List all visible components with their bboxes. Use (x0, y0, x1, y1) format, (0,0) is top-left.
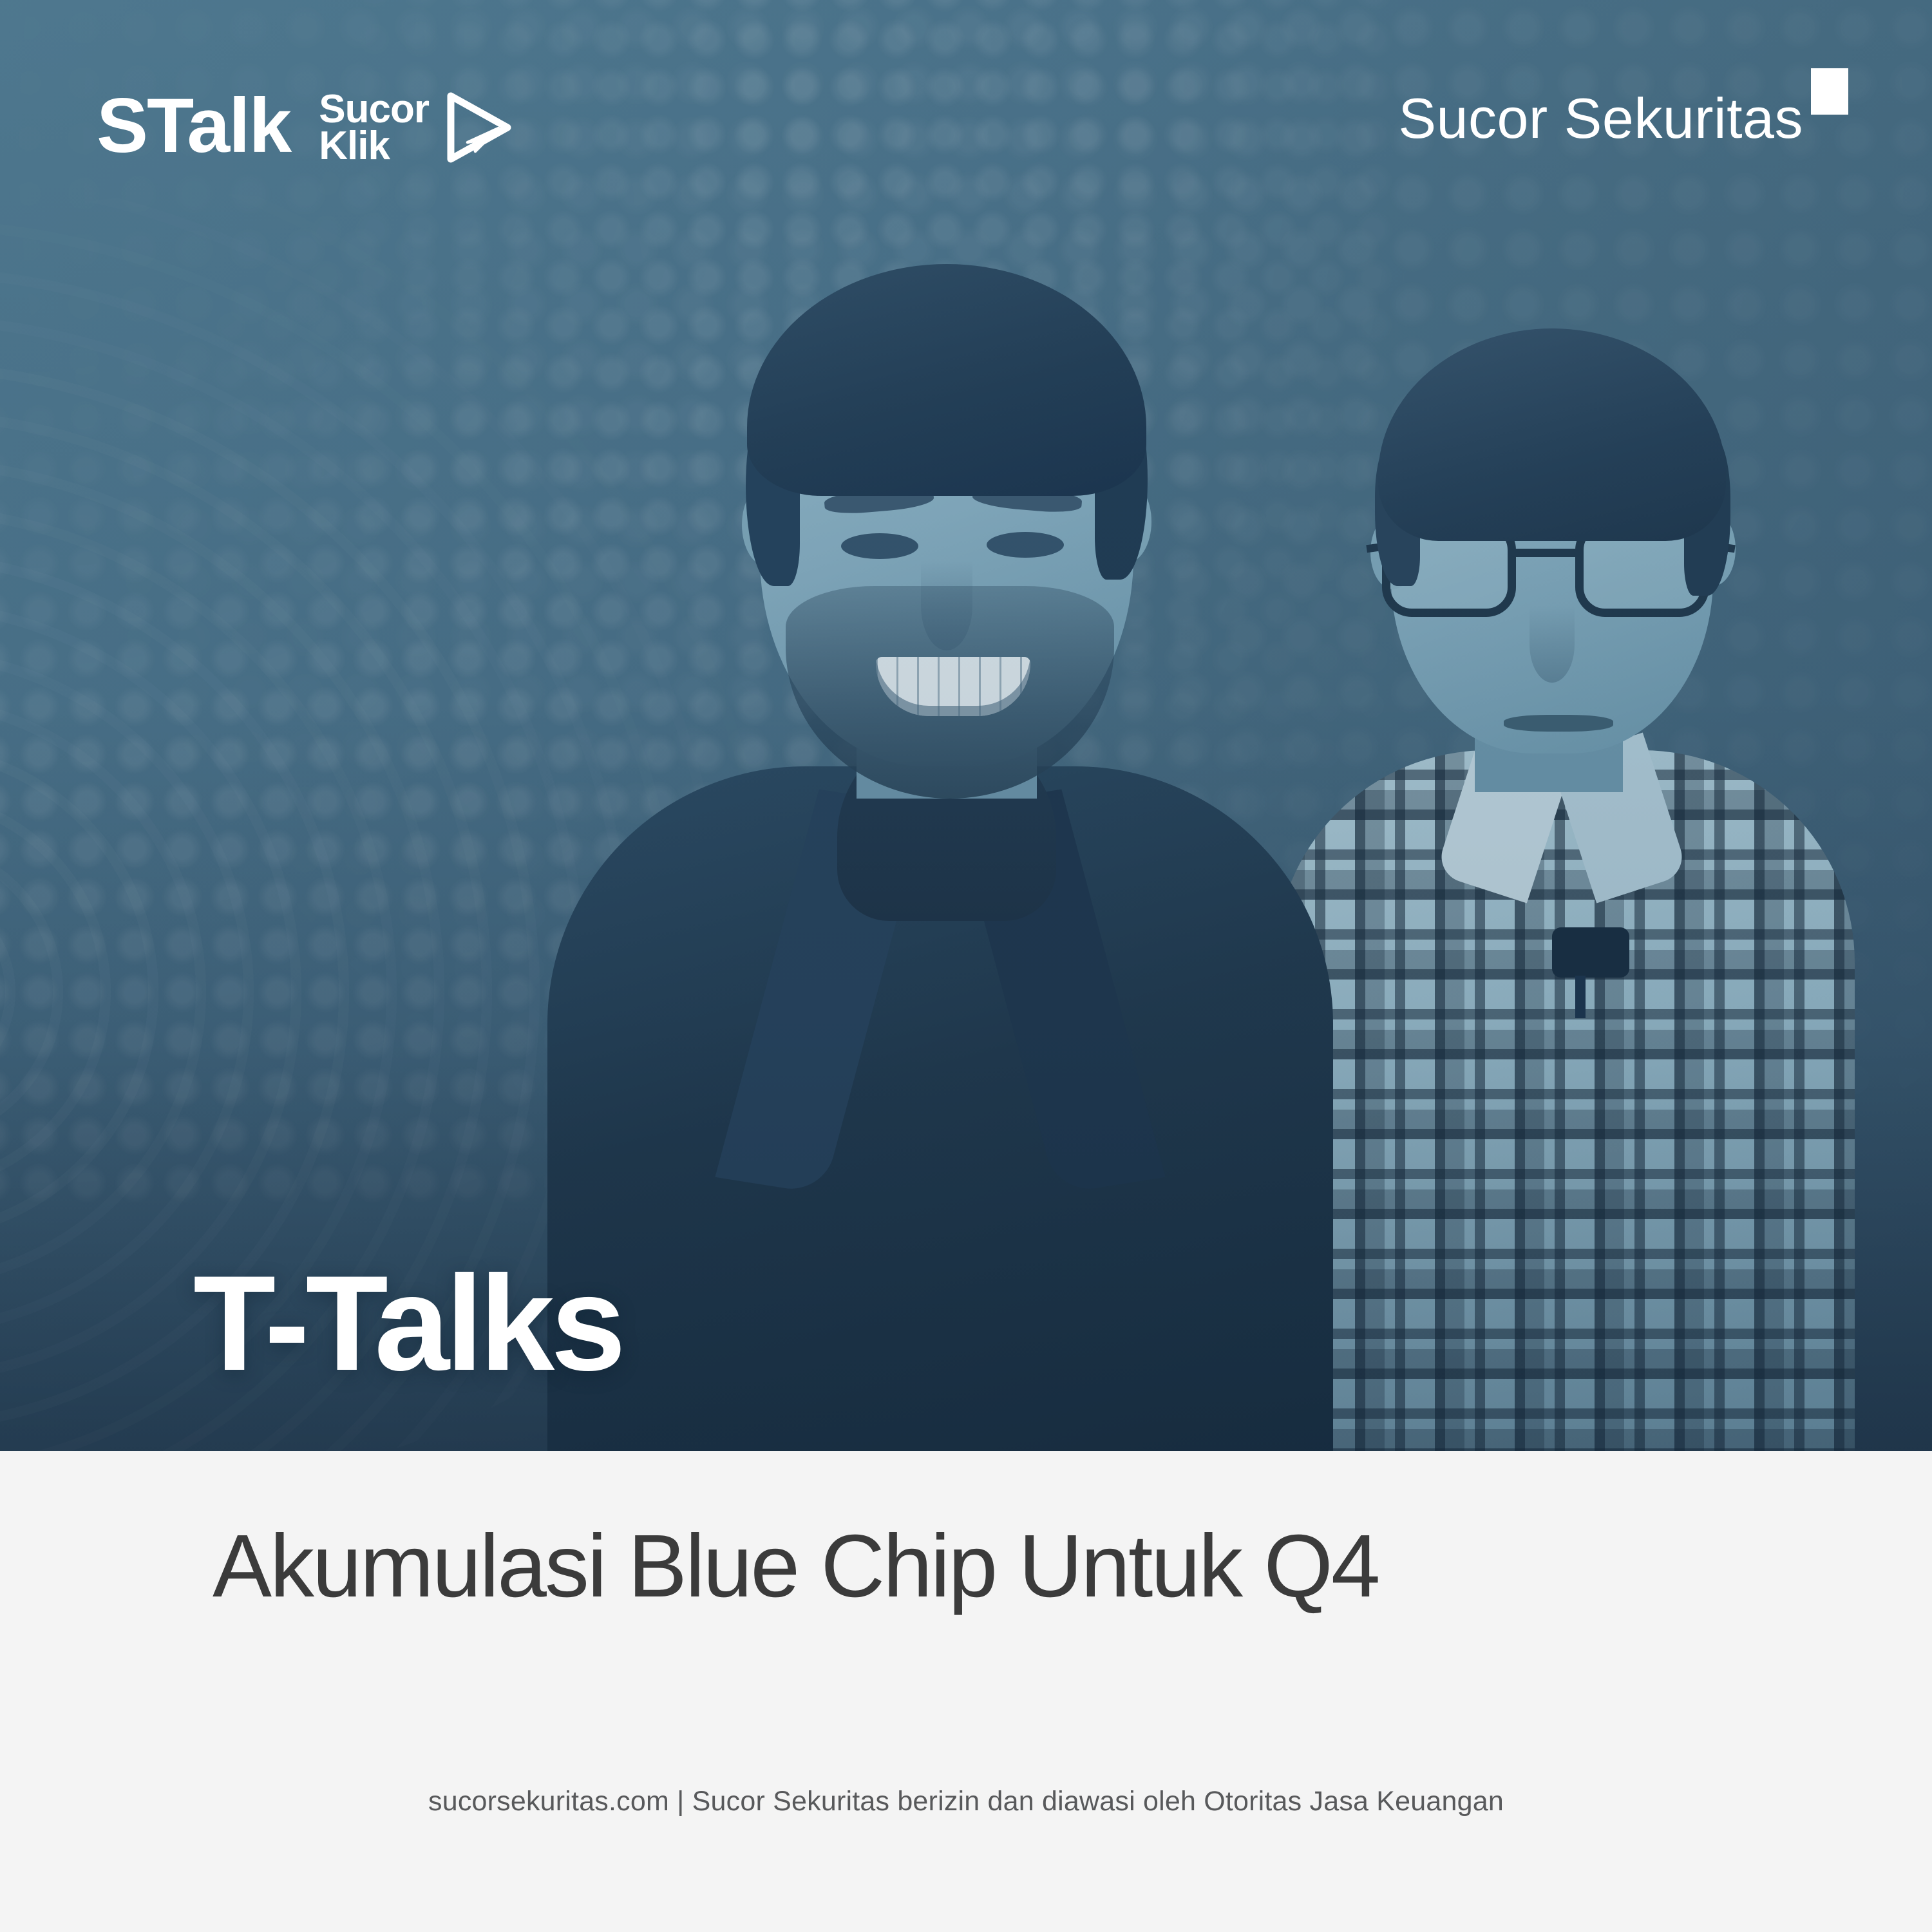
page-title: T-Talks (193, 1256, 622, 1391)
mouth (1504, 715, 1613, 732)
stalk-wordmark: STalk (97, 87, 290, 164)
eyeglass-bridge (1511, 549, 1583, 557)
stalk-sucorklik-logo[interactable]: STalk Sucor Klik (97, 87, 514, 166)
hero-panel: STalk Sucor Klik Sucor Sekuritas (0, 0, 1932, 1451)
play-triangle-with-paper-plane-icon (438, 90, 514, 166)
lapel-mic-clip (1575, 976, 1586, 1018)
sucor-klik-line-1: Sucor (319, 91, 429, 128)
lapel-mic (1552, 927, 1629, 978)
poster-canvas: STalk Sucor Klik Sucor Sekuritas (0, 0, 1932, 1932)
speaker-left-portrait (554, 213, 1327, 1451)
plaid-shirt (1275, 750, 1855, 1451)
nose (921, 560, 972, 650)
sucor-sekuritas-logo[interactable]: Sucor Sekuritas (1398, 90, 1848, 147)
hair-top (1378, 328, 1726, 541)
speaker-right-portrait (1262, 270, 1855, 1451)
sucor-square-mark-icon (1811, 68, 1848, 115)
sucor-sekuritas-wordmark: Sucor Sekuritas (1398, 90, 1803, 147)
episode-subtitle: Akumulasi Blue Chip Untuk Q4 (213, 1522, 1379, 1611)
sucor-klik-line-2: Klik (319, 128, 429, 164)
eye-left (841, 533, 918, 559)
bottom-panel: Akumulasi Blue Chip Untuk Q4 sucorsekuri… (0, 1451, 1932, 1932)
hair-top (747, 264, 1146, 496)
disclaimer-footnote: sucorsekuritas.com | Sucor Sekuritas ber… (0, 1786, 1932, 1817)
sucor-klik-logo: Sucor Klik (319, 90, 514, 166)
eye-right (987, 532, 1064, 558)
sucor-klik-wordmark: Sucor Klik (319, 91, 429, 164)
